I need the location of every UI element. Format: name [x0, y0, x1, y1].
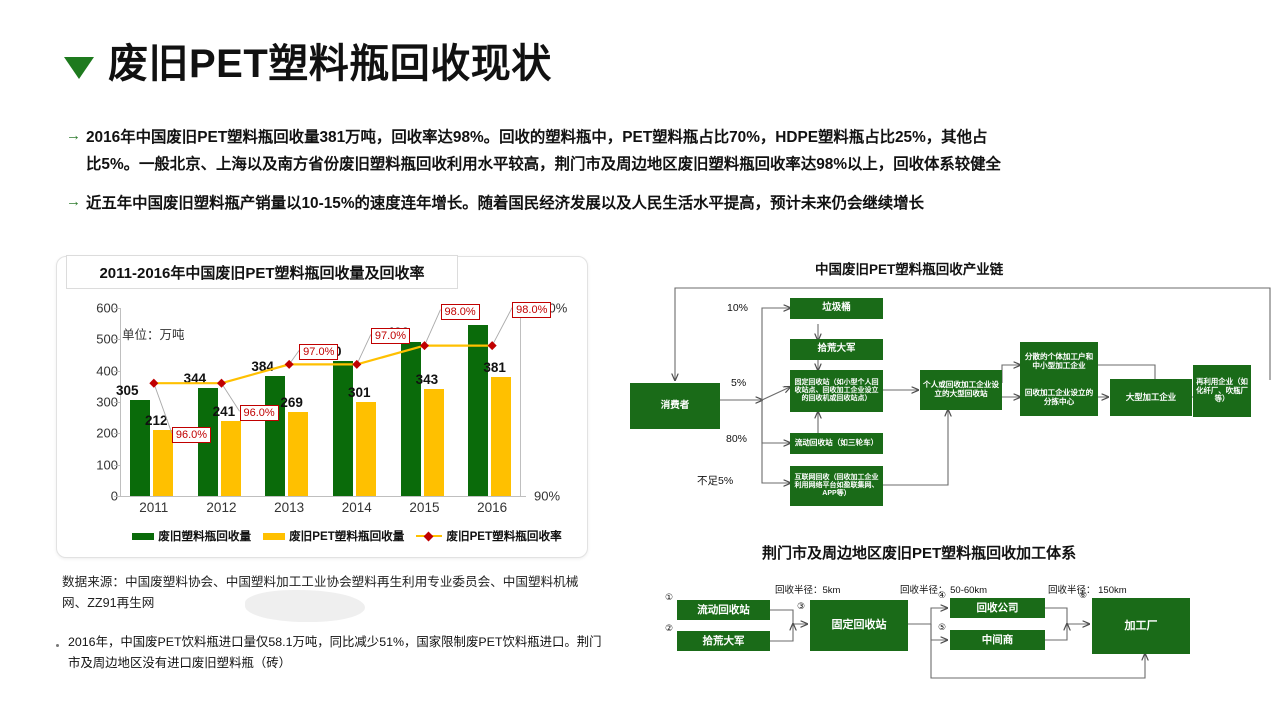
rate-marker: [217, 379, 226, 388]
diagram1-title: 中国废旧PET塑料瓶回收产业链: [815, 258, 1003, 278]
chart-title-box: 2011-2016年中国废旧PET塑料瓶回收量及回收率: [66, 255, 458, 289]
node-middleman: 中间商: [950, 630, 1045, 650]
x-tick-label: 2011: [120, 500, 188, 515]
bullet-line: 比5%。一般北京、上海以及南方省份废旧塑料瓶回收利用水平较高，荆门市及周边地区废…: [86, 151, 1001, 178]
callout-leader-line: [154, 383, 172, 433]
callout-leader-line: [357, 334, 371, 364]
node-reuse-enterprise: 再利用企业（如化纤厂、吹瓶厂等）: [1193, 365, 1251, 417]
node-scavengers: 拾荒大军: [677, 631, 770, 651]
bullet-item: → 2016年中国废旧PET塑料瓶回收量381万吨，回收率达98%。回收的塑料瓶…: [66, 124, 1226, 178]
marker-1: ①: [665, 592, 673, 603]
bullet-line: 2016年中国废旧PET塑料瓶回收量381万吨，回收率达98%。回收的塑料瓶中，…: [86, 124, 1001, 151]
node-recycle-company: 回收公司: [950, 598, 1045, 618]
edge-label-bin: 10%: [727, 302, 748, 314]
marker-3: ③: [797, 601, 805, 612]
node-large-station: 个人或回收加工企业设立的大型回收站: [920, 370, 1002, 410]
legend-line-marker-icon: [416, 532, 442, 540]
edge-label-fixed: 5%: [731, 377, 746, 389]
recycling-chart: 单位：万吨 0100200300400500600 100%90% 305212…: [56, 300, 586, 560]
rate-marker: [420, 341, 429, 350]
bullet-list: → 2016年中国废旧PET塑料瓶回收量381万吨，回收率达98%。回收的塑料瓶…: [66, 124, 1226, 229]
rate-marker: [488, 341, 497, 350]
bullet-line: 近五年中国废旧塑料瓶产销量以10-15%的速度连年增长。随着国民经济发展以及人民…: [86, 190, 924, 217]
x-axis-labels: 201120122013201420152016: [120, 500, 526, 522]
callout-leader-line: [425, 310, 441, 346]
rate-callout-label: 96.0%: [172, 427, 211, 443]
legend-label: 废旧PET塑料瓶回收量: [289, 528, 404, 544]
rate-line-series: [120, 308, 526, 496]
edge-label-internet: 不足5%: [697, 473, 733, 488]
rate-callout-label: 97.0%: [299, 344, 338, 360]
legend-swatch-icon: [132, 533, 154, 540]
footnote-text: 2016年，中国废PET饮料瓶进口量仅58.1万吨，同比减少51%，国家限制废P…: [68, 632, 608, 674]
arrow-right-icon: →: [66, 190, 86, 214]
x-tick-label: 2012: [188, 500, 256, 515]
node-factory: 加工厂: [1092, 598, 1190, 654]
node-consumer: 消费者: [630, 383, 720, 429]
legend-label: 废旧塑料瓶回收量: [158, 528, 251, 544]
rate-callout-label: 98.0%: [512, 302, 551, 318]
legend-item-rate: 废旧PET塑料瓶回收率: [416, 528, 561, 544]
rate-callout-label: 97.0%: [371, 328, 410, 344]
callout-leader-line: [492, 308, 512, 346]
radius-label-3: 回收半径： 150km: [1048, 582, 1127, 596]
edge-label-mobile: 80%: [726, 433, 747, 445]
legend-label: 废旧PET塑料瓶回收率: [446, 528, 561, 544]
slide-root: 废旧PET塑料瓶回收现状 → 2016年中国废旧PET塑料瓶回收量381万吨，回…: [0, 0, 1280, 720]
x-tick-label: 2016: [458, 500, 526, 515]
node-large-processor: 大型加工企业: [1110, 379, 1192, 416]
jingmen-system-diagram: 流动回收站 拾荒大军 固定回收站 回收公司 中间商 加工厂 ① ② ③ ④ ⑤ …: [655, 578, 1225, 688]
chart-source-note: 数据来源：中国废塑料协会、中国塑料加工工业协会塑料再生利用专业委员会、中国塑料机…: [62, 572, 582, 614]
marker-2: ②: [665, 623, 673, 634]
rate-callout-label: 98.0%: [441, 304, 480, 320]
node-trash-bin: 垃圾桶: [790, 298, 883, 319]
rate-marker: [285, 360, 294, 369]
callout-leader-line: [222, 383, 240, 411]
x-tick-label: 2015: [391, 500, 459, 515]
page-title-text: 废旧PET塑料瓶回收现状: [108, 44, 552, 84]
industry-chain-diagram: 消费者 垃圾桶 拾荒大军 固定回收站（如小型个人回收站点、回收加工企业设立的回收…: [630, 280, 1250, 510]
chart-title: 2011-2016年中国废旧PET塑料瓶回收量及回收率: [99, 262, 424, 283]
node-fixed-station: 固定回收站: [810, 600, 908, 651]
marker-5: ⑤: [938, 622, 946, 633]
bullet-dot-icon: [56, 644, 59, 647]
y-tick-mark: [114, 496, 120, 497]
node-scattered-processors: 分散的个体加工户和中小型加工企业: [1020, 342, 1098, 382]
x-tick-label: 2014: [323, 500, 391, 515]
arrow-right-icon: →: [66, 124, 86, 148]
y-axis: 0100200300400500600: [74, 308, 118, 496]
diagram2-title: 荆门市及周边地区废旧PET塑料瓶回收加工体系: [762, 542, 1076, 563]
rate-marker: [352, 360, 361, 369]
node-scavengers: 拾荒大军: [790, 339, 883, 360]
radius-label-2: 回收半径： 50-60km: [900, 582, 987, 596]
x-axis-line: [120, 496, 526, 497]
x-tick-label: 2013: [255, 500, 323, 515]
legend-item-green: 废旧塑料瓶回收量: [132, 528, 251, 544]
bullet-item: → 近五年中国废旧塑料瓶产销量以10-15%的速度连年增长。随着国民经济发展以及…: [66, 190, 1226, 217]
chart-legend: 废旧塑料瓶回收量 废旧PET塑料瓶回收量 废旧PET塑料瓶回收率: [120, 528, 580, 544]
page-title: 废旧PET塑料瓶回收现状: [64, 44, 552, 84]
node-fixed-station: 固定回收站（如小型个人回收站点、回收加工企业设立的回收机或回收站点）: [790, 370, 883, 412]
y2-tick-label: 90%: [534, 489, 560, 504]
rate-marker: [149, 379, 158, 388]
rate-callout-label: 96.0%: [240, 405, 279, 421]
triangle-down-icon: [64, 57, 94, 79]
node-mobile-station: 流动回收站: [677, 600, 770, 620]
node-internet-recycle: 互联网回收（回收加工企业利用网络平台如盈联集网、APP等）: [790, 466, 883, 506]
radius-label-1: 回收半径：5km: [775, 582, 840, 596]
node-sorting-center: 回收加工企业设立的分拣中心: [1020, 379, 1098, 416]
legend-swatch-icon: [263, 533, 285, 540]
node-mobile-station: 流动回收站（如三轮车）: [790, 433, 883, 454]
legend-item-yellow: 废旧PET塑料瓶回收量: [263, 528, 404, 544]
